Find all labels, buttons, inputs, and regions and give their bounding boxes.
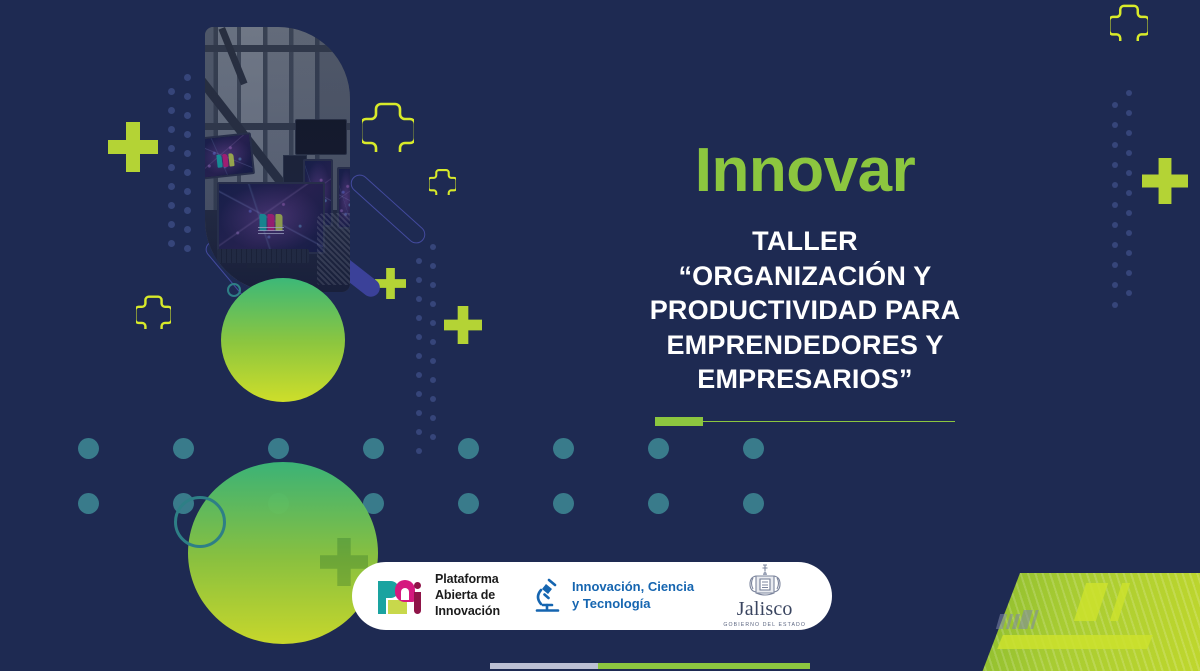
subtitle-line: EMPRESARIOS”	[600, 362, 1010, 397]
title-block: Innovar TALLER “ORGANIZACIÓN Y PRODUCTIV…	[600, 140, 1010, 427]
plus-outline-icon-small-mid	[429, 168, 456, 195]
green-striped-wedge	[930, 573, 1200, 671]
subtitle: TALLER “ORGANIZACIÓN Y PRODUCTIVIDAD PAR…	[600, 224, 1010, 397]
pai-logo-line: Abierta de	[435, 588, 500, 604]
accent-rule-thin	[701, 421, 955, 423]
ict-logo-line: Innovación, Ciencia	[572, 579, 694, 596]
plus-solid-icon-mid-b	[444, 306, 482, 344]
jalisco-tagline: GOBIERNO DEL ESTADO	[723, 622, 806, 628]
decorative-glyph-cluster	[998, 610, 1036, 629]
plus-solid-icon-left-top	[108, 122, 158, 172]
pai-logo-line: Innovación	[435, 604, 500, 620]
jalisco-wordmark: Jalisco	[737, 598, 793, 621]
wedge-block-3	[997, 635, 1153, 649]
dot-column-left-inner	[184, 74, 191, 252]
bottom-bar-segment-a	[490, 663, 598, 669]
pai-logo-line: Plataforma	[435, 572, 500, 588]
ict-logo-line: y Tecnología	[572, 596, 694, 613]
plus-outline-icon-top-mid	[362, 100, 414, 152]
plus-solid-icon-mid-a	[375, 268, 406, 299]
capsule-outline-upper	[347, 171, 429, 247]
bottom-bar-segment-b	[598, 663, 810, 669]
dot-column-mid	[416, 258, 422, 454]
pai-logo-text: Plataforma Abierta de Innovación	[435, 572, 500, 619]
subtitle-line: PRODUCTIVIDAD PARA	[600, 293, 1010, 328]
green-gradient-circle-small	[221, 278, 345, 402]
dot-column-right	[1112, 102, 1118, 308]
slide-canvas: Innovar TALLER “ORGANIZACIÓN Y PRODUCTIV…	[0, 0, 1200, 671]
dot-column-mid-inner	[430, 244, 436, 440]
photo-color-tint	[205, 27, 350, 292]
pai-monogram-icon	[378, 578, 426, 614]
plus-solid-icon-right	[1142, 158, 1188, 204]
logo-gobierno-de-jalisco: Jalisco GOBIERNO DEL ESTADO	[723, 564, 806, 628]
teal-ring-large	[174, 496, 226, 548]
subtitle-line: EMPRENDEDORES Y	[600, 328, 1010, 363]
plus-outline-icon-left-low	[136, 294, 171, 329]
teal-ring-small	[227, 283, 241, 297]
plus-outline-icon-top-right	[1110, 3, 1148, 41]
sponsor-logo-bar: Plataforma Abierta de Innovación Innovac…	[352, 562, 832, 630]
dot-column-right-inner	[1126, 90, 1132, 296]
microscope-icon	[532, 577, 562, 615]
logo-innovacion-ciencia-y-tecnologia: Innovación, Ciencia y Tecnología	[532, 577, 694, 615]
logo-plataforma-abierta-de-innovacion: Plataforma Abierta de Innovación	[378, 572, 500, 619]
bottom-progress-bar	[490, 663, 810, 669]
workstation-photo	[205, 27, 350, 292]
wedge-stripes	[930, 573, 1200, 671]
jalisco-coat-of-arms-icon	[744, 564, 786, 598]
accent-rule-thick	[655, 417, 703, 426]
accent-rule	[655, 417, 955, 427]
dot-column-left	[168, 88, 175, 247]
subtitle-line: TALLER	[600, 224, 1010, 259]
photo-scene	[205, 27, 350, 292]
ict-logo-text: Innovación, Ciencia y Tecnología	[572, 579, 694, 613]
page-title: Innovar	[600, 140, 1010, 202]
subtitle-line: “ORGANIZACIÓN Y	[600, 259, 1010, 294]
